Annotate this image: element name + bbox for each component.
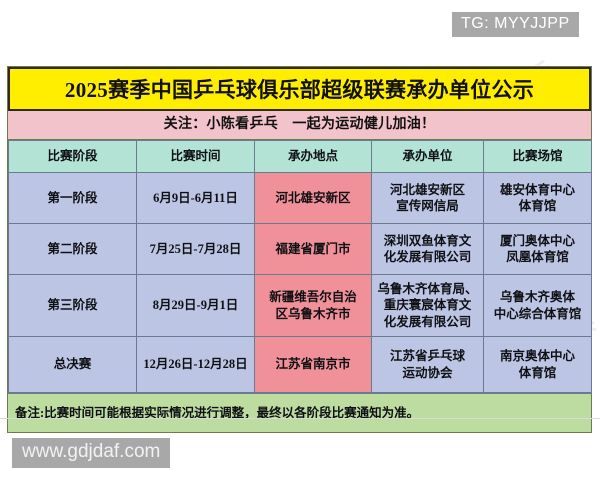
column-header-date: 比赛时间 [137,141,255,173]
cell-organizer: 乌鲁木齐体育局、重庆寰宸体育文化发展有限公司 [372,275,484,337]
cell-stage: 第一阶段 [9,173,137,224]
telegram-watermark-badge: TG: MYYJJPP [452,12,579,37]
poster-subtitle: 关注：小陈看乒乓 一起为运动健儿加油！ [8,111,591,140]
poster-title: 2025赛季中国乒乓球俱乐部超级联赛承办单位公示 [8,67,591,111]
cell-organizer: 深圳双鱼体育文化发展有限公司 [372,224,484,275]
cell-city: 河北雄安新区 [255,173,372,224]
table-row: 第一阶段 6月9日-6月11日 河北雄安新区 河北雄安新区宣传网信局 雄安体育中… [9,173,592,224]
cell-date: 7月25日-7月28日 [137,224,255,275]
table-row: 总决赛 12月26日-12月28日 江苏省南京市 江苏省乒乓球运动协会 南京奥体… [9,337,592,393]
cell-arena: 乌鲁木齐奥体中心综合体育馆 [484,275,592,337]
cell-date: 8月29日-9月1日 [137,275,255,337]
table-row: 第三阶段 8月29日-9月1日 新疆维吾尔自治区乌鲁木齐市 乌鲁木齐体育局、重庆… [9,275,592,337]
schedule-table: 比赛阶段 比赛时间 承办地点 承办单位 比赛场馆 第一阶段 6月9日-6月11日… [8,140,592,393]
announcement-poster: 2025赛季中国乒乓球俱乐部超级联赛承办单位公示 关注：小陈看乒乓 一起为运动健… [7,66,592,433]
cell-date: 12月26日-12月28日 [137,337,255,393]
column-header-city: 承办地点 [255,141,372,173]
cell-organizer: 河北雄安新区宣传网信局 [372,173,484,224]
cell-city: 新疆维吾尔自治区乌鲁木齐市 [255,275,372,337]
cell-stage: 第二阶段 [9,224,137,275]
cell-stage: 第三阶段 [9,275,137,337]
cell-stage: 总决赛 [9,337,137,393]
cell-arena: 厦门奥体中心凤凰体育馆 [484,224,592,275]
cell-city: 福建省厦门市 [255,224,372,275]
table-header-row: 比赛阶段 比赛时间 承办地点 承办单位 比赛场馆 [9,141,592,173]
site-watermark-badge: www.gdjdaf.com [12,438,170,468]
cell-organizer: 江苏省乒乓球运动协会 [372,337,484,393]
horizontal-divider [0,418,600,419]
poster-note: 备注:比赛时间可能根据实际情况进行调整，最终以各阶段比赛通知为准。 [8,393,591,432]
column-header-arena: 比赛场馆 [484,141,592,173]
cell-arena: 雄安体育中心体育馆 [484,173,592,224]
column-header-organizer: 承办单位 [372,141,484,173]
table-row: 第二阶段 7月25日-7月28日 福建省厦门市 深圳双鱼体育文化发展有限公司 厦… [9,224,592,275]
cell-date: 6月9日-6月11日 [137,173,255,224]
cell-arena: 南京奥体中心体育馆 [484,337,592,393]
column-header-stage: 比赛阶段 [9,141,137,173]
cell-city: 江苏省南京市 [255,337,372,393]
